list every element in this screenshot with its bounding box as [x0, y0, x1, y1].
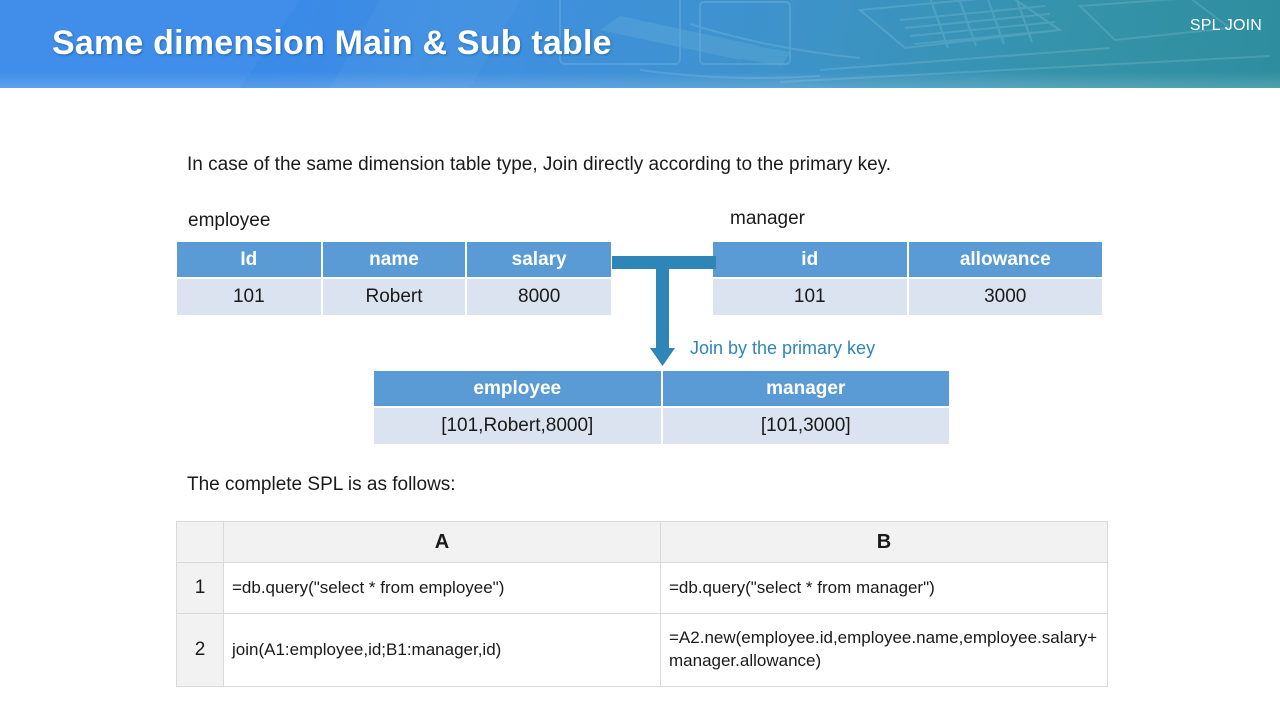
result-header-manager: manager	[662, 371, 950, 407]
spl-column-header-b: B	[661, 522, 1108, 563]
banner-tag-label: SPL JOIN	[1190, 17, 1262, 35]
table-header-row: employee manager	[374, 371, 949, 407]
table-row: 101 Robert 8000	[177, 278, 611, 315]
spl-code-table: A B 1 =db.query("select * from employee"…	[176, 521, 1108, 687]
table-row: [101,Robert,8000] [101,3000]	[374, 407, 949, 444]
spl-header-row: A B	[177, 522, 1108, 563]
employee-header-name: name	[322, 242, 467, 278]
table-header-row: Id name salary	[177, 242, 611, 278]
employee-cell-name: Robert	[322, 278, 467, 315]
manager-table: id allowance 101 3000	[713, 242, 1102, 315]
spl-corner-cell	[177, 522, 224, 563]
employee-header-id: Id	[177, 242, 322, 278]
spl-column-header-a: A	[224, 522, 661, 563]
spl-cell-b1[interactable]: =db.query("select * from manager")	[661, 563, 1108, 614]
employee-table: Id name salary 101 Robert 8000	[177, 242, 611, 315]
spl-cell-a2[interactable]: join(A1:employee,id;B1:manager,id)	[224, 614, 661, 687]
manager-table-caption: manager	[730, 208, 805, 230]
page-title: Same dimension Main & Sub table	[52, 24, 612, 63]
result-header-employee: employee	[374, 371, 662, 407]
spl-row-number-2: 2	[177, 614, 224, 687]
employee-cell-id: 101	[177, 278, 322, 315]
table-row: 101 3000	[713, 278, 1102, 315]
banner-bottom-sheen	[0, 72, 1280, 88]
spl-cell-b2[interactable]: =A2.new(employee.id,employee.name,employ…	[661, 614, 1108, 687]
result-table: employee manager [101,Robert,8000] [101,…	[374, 371, 949, 444]
employee-table-caption: employee	[188, 210, 270, 232]
join-annotation-label: Join by the primary key	[690, 338, 875, 359]
spl-cell-a1[interactable]: =db.query("select * from employee")	[224, 563, 661, 614]
manager-header-id: id	[713, 242, 908, 278]
manager-cell-allowance: 3000	[908, 278, 1103, 315]
intro-paragraph: In case of the same dimension table type…	[187, 154, 891, 176]
spl-intro-paragraph: The complete SPL is as follows:	[187, 474, 456, 496]
spl-row-2: 2 join(A1:employee,id;B1:manager,id) =A2…	[177, 614, 1108, 687]
spl-row-number-1: 1	[177, 563, 224, 614]
spl-row-1: 1 =db.query("select * from employee") =d…	[177, 563, 1108, 614]
result-cell-employee: [101,Robert,8000]	[374, 407, 662, 444]
header-banner: Same dimension Main & Sub table SPL JOIN	[0, 0, 1280, 88]
result-cell-manager: [101,3000]	[662, 407, 950, 444]
employee-header-salary: salary	[466, 242, 611, 278]
employee-cell-salary: 8000	[466, 278, 611, 315]
table-header-row: id allowance	[713, 242, 1102, 278]
manager-cell-id: 101	[713, 278, 908, 315]
manager-header-allowance: allowance	[908, 242, 1103, 278]
